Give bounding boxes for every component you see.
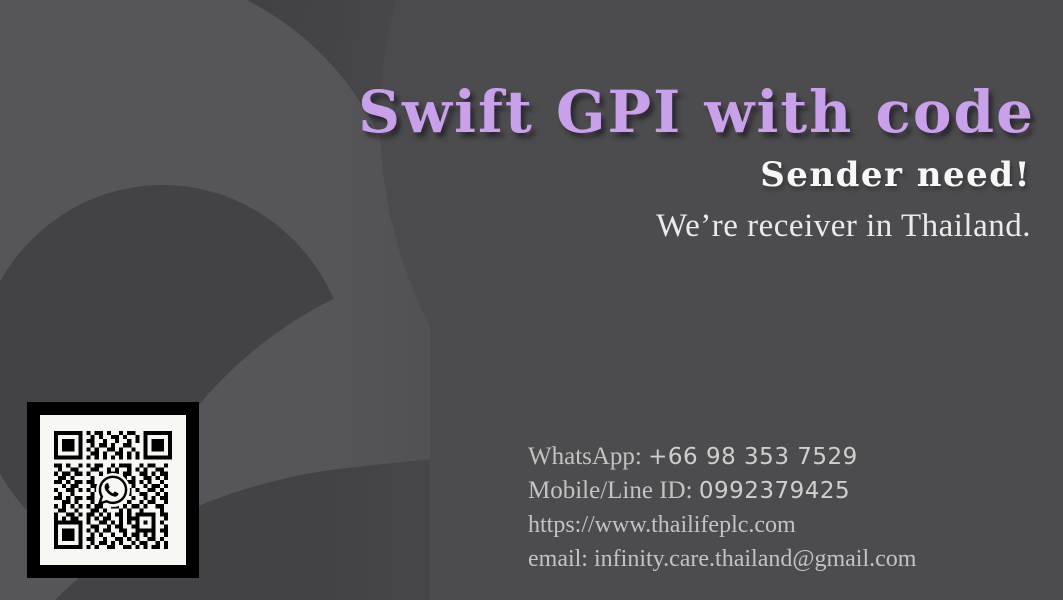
page-title: Swift GPI with code (0, 78, 1035, 146)
contact-website-url[interactable]: https://www.thailifeplc.com (528, 512, 796, 538)
contact-email-address[interactable]: infinity.care.thailand@gmail.com (594, 546, 916, 572)
contact-website[interactable]: https://www.thailifeplc.com (528, 508, 916, 542)
contact-email-label: email: (528, 546, 588, 572)
qr-code[interactable] (27, 402, 199, 578)
contact-email: email: infinity.care.thailand@gmail.com (528, 542, 916, 576)
qr-module-grid (54, 431, 172, 549)
contact-mobile-number[interactable]: 0992379425 (699, 478, 850, 504)
whatsapp-icon (96, 473, 130, 507)
contact-whatsapp-number[interactable]: +66 98 353 7529 (648, 444, 858, 470)
tagline: We’re receiver in Thailand. (0, 208, 1031, 245)
contact-details: WhatsApp: +66 98 353 7529 Mobile/Line ID… (528, 440, 916, 576)
business-card: Swift GPI with code Sender need! We’re r… (0, 0, 1063, 600)
contact-whatsapp: WhatsApp: +66 98 353 7529 (528, 440, 916, 474)
contact-whatsapp-label: WhatsApp: (528, 443, 642, 470)
contact-mobile-line-id: Mobile/Line ID: 0992379425 (528, 474, 916, 508)
qr-quiet-zone (40, 415, 186, 565)
subtitle: Sender need! (0, 155, 1031, 195)
contact-mobile-label: Mobile/Line ID: (528, 477, 693, 504)
